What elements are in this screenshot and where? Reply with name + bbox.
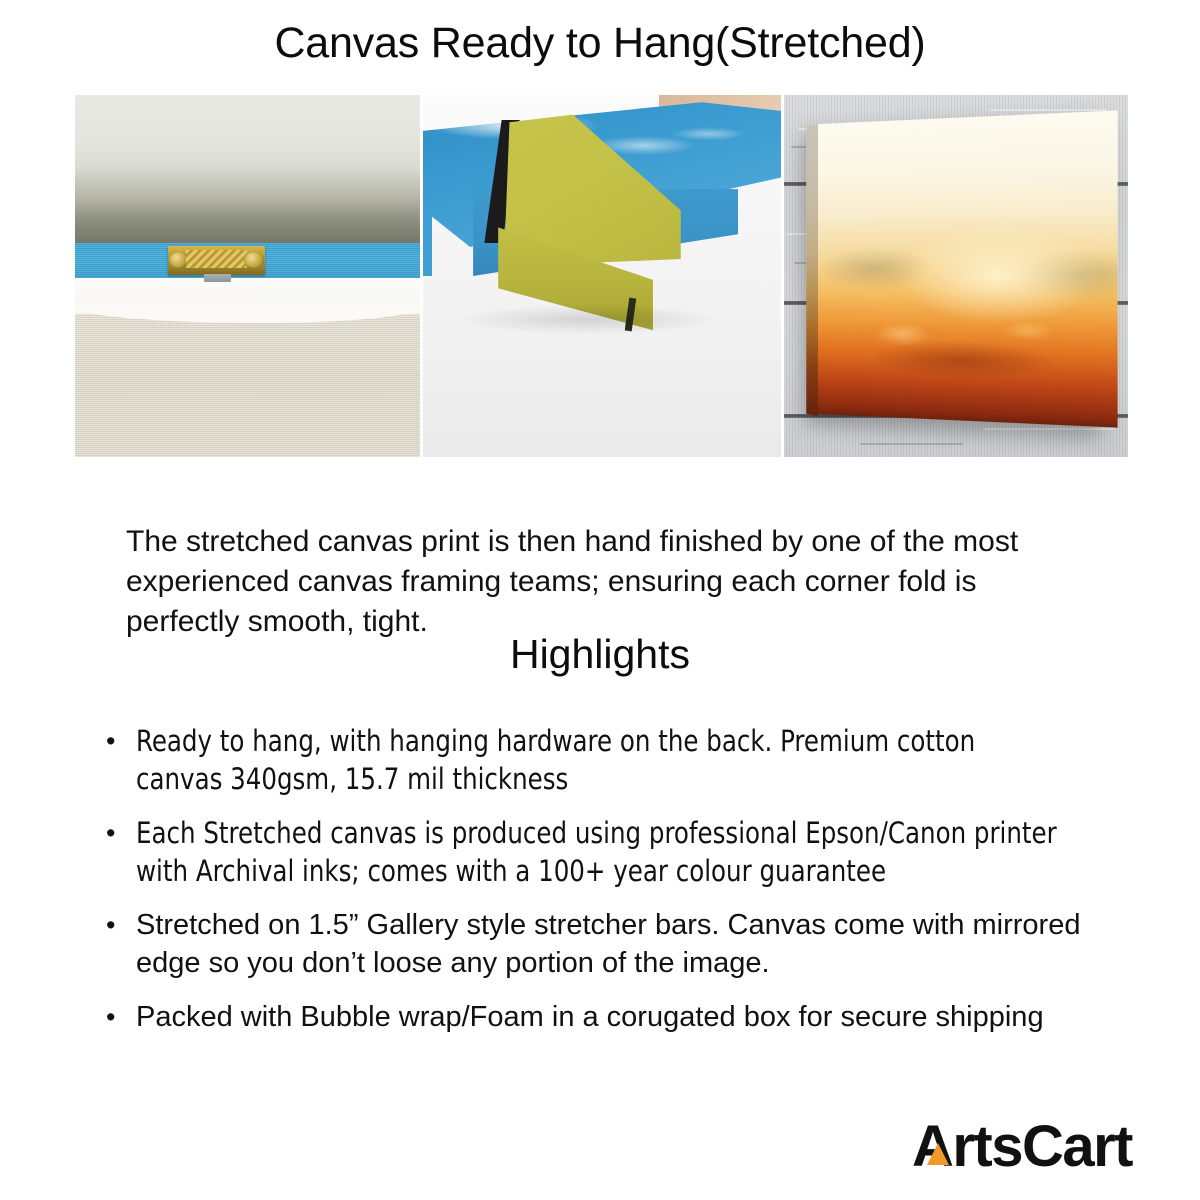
highlight-stretcher-bars-text: Stretched on 1.5” Gallery style stretche…: [136, 906, 1116, 982]
highlights-list: • Ready to hang, with hanging hardware o…: [106, 722, 1116, 1052]
page-title: Canvas Ready to Hang(Stretched): [0, 18, 1200, 68]
highlight-packaging-text: Packed with Bubble wrap/Foam in a coruga…: [136, 998, 1116, 1036]
bullet-dot-icon: •: [106, 814, 136, 852]
canvas-hung-on-wood-wall-photo: [784, 95, 1128, 457]
product-photo-strip: [75, 95, 1128, 457]
hung-canvas: [818, 110, 1117, 427]
canvas-corner-fold-photo: [423, 95, 781, 457]
sawtooth-hanger-icon: [168, 246, 265, 276]
highlight-ready-to-hang-text: Ready to hang, with hanging hardware on …: [136, 722, 1057, 798]
intro-paragraph: The stretched canvas print is then hand …: [126, 522, 1066, 642]
wood-grain: [984, 428, 1115, 430]
highlight-ready-to-hang: • Ready to hang, with hanging hardware o…: [106, 722, 1116, 798]
bullet-dot-icon: •: [106, 906, 136, 944]
highlight-packaging: • Packed with Bubble wrap/Foam in a coru…: [106, 998, 1116, 1036]
canvas-back-hanging-hardware-photo: [75, 95, 420, 457]
photo-back-canvas-face: [75, 314, 420, 457]
wood-grain: [860, 443, 963, 445]
highlight-stretcher-bars: • Stretched on 1.5” Gallery style stretc…: [106, 906, 1116, 982]
photo-corner-shadow: [459, 305, 717, 334]
highlight-printer-and-inks-text: Each Stretched canvas is produced using …: [136, 814, 1057, 890]
bullet-dot-icon: •: [106, 722, 136, 760]
hung-canvas-sunset-print: [818, 110, 1117, 427]
hanger-sawtooth: [186, 250, 248, 267]
hanger-nail: [204, 274, 231, 282]
highlight-printer-and-inks: • Each Stretched canvas is produced usin…: [106, 814, 1116, 890]
hanger-screw-right: [244, 252, 263, 269]
hung-canvas-side-edge: [807, 125, 819, 416]
photo-back-wall: [75, 95, 420, 243]
artscart-logo: ArtsCart: [912, 1116, 1132, 1178]
orange-triangle-icon: [927, 1143, 949, 1165]
highlights-heading: Highlights: [0, 630, 1200, 678]
bullet-dot-icon: •: [106, 998, 136, 1036]
